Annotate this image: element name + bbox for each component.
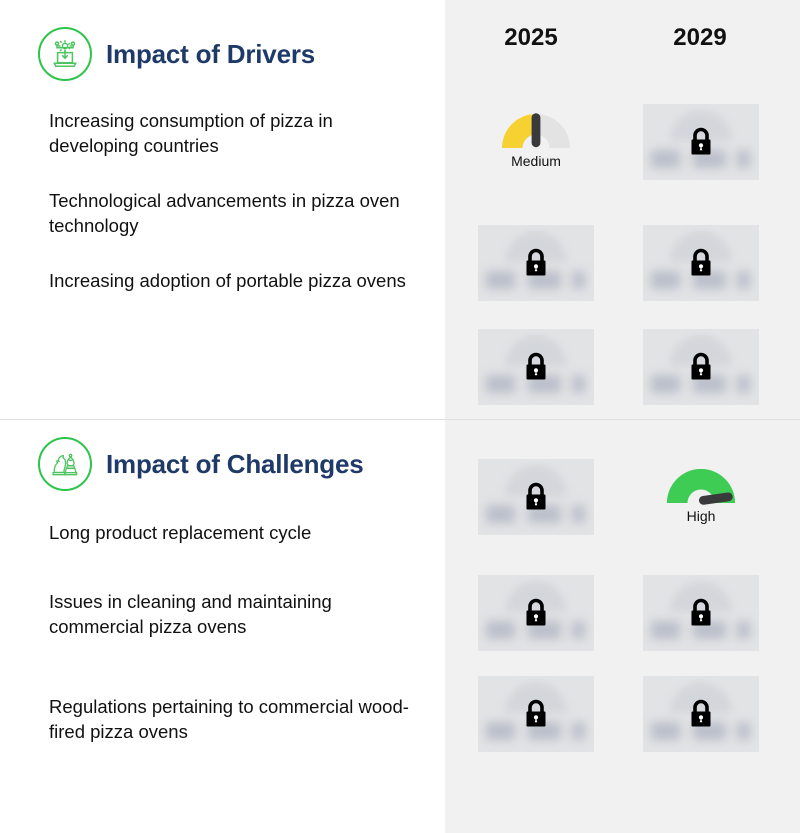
factor-label: Issues in cleaning and maintaining comme… (49, 589, 409, 639)
lock-icon (686, 350, 716, 384)
lock-icon (686, 246, 716, 280)
lock-icon (521, 480, 551, 514)
lock-icon (686, 596, 716, 630)
lock-icon (521, 697, 551, 731)
factor-label: Regulations pertaining to commercial woo… (49, 694, 409, 744)
gauge-arc-icon (498, 108, 574, 152)
lock-icon (686, 697, 716, 731)
gauge-value-label: Medium (511, 153, 561, 169)
automation-drivers-icon (38, 27, 92, 81)
locked-tile[interactable] (478, 575, 594, 651)
factor-label: Long product replacement cycle (49, 520, 409, 545)
locked-tile[interactable] (643, 225, 759, 301)
impact-matrix-canvas: Impact of Drivers Increasing consumption… (0, 0, 800, 833)
rating-cell-challenges-2-2029[interactable] (643, 575, 759, 651)
gauge-value-label: High (687, 508, 716, 524)
section-header-drivers: Impact of Drivers (38, 27, 315, 81)
rating-cell-drivers-3-2025[interactable] (478, 329, 594, 405)
rating-cell-challenges-3-2029[interactable] (643, 676, 759, 752)
locked-tile[interactable] (643, 104, 759, 180)
gauge-high: High (643, 459, 759, 535)
locked-tile[interactable] (478, 329, 594, 405)
gauge-medium: Medium (478, 104, 594, 180)
lock-icon (686, 125, 716, 159)
locked-tile[interactable] (478, 676, 594, 752)
section-title: Impact of Drivers (106, 39, 315, 70)
column-header-2029: 2029 (640, 24, 760, 52)
locked-tile[interactable] (643, 575, 759, 651)
rating-cell-drivers-1-2025[interactable]: Medium (478, 104, 594, 180)
rating-cell-drivers-1-2029[interactable] (643, 104, 759, 180)
lock-icon (521, 596, 551, 630)
rating-cell-challenges-1-2029[interactable]: High (643, 459, 759, 535)
section-title: Impact of Challenges (106, 449, 364, 480)
section-header-challenges: Impact of Challenges (38, 437, 364, 491)
locked-tile[interactable] (478, 459, 594, 535)
column-header-2025: 2025 (471, 24, 591, 52)
chess-pieces-icon (38, 437, 92, 491)
rating-cell-drivers-2-2025[interactable] (478, 225, 594, 301)
factor-label: Increasing adoption of portable pizza ov… (49, 268, 409, 293)
rating-cell-challenges-2-2025[interactable] (478, 575, 594, 651)
factor-label: Increasing consumption of pizza in devel… (49, 108, 409, 158)
lock-icon (521, 350, 551, 384)
factor-label: Technological advancements in pizza oven… (49, 188, 409, 238)
locked-tile[interactable] (478, 225, 594, 301)
rating-cell-drivers-2-2029[interactable] (643, 225, 759, 301)
locked-tile[interactable] (643, 329, 759, 405)
gauge-arc-icon (663, 463, 739, 507)
factors-column: Impact of Drivers Increasing consumption… (0, 0, 445, 833)
lock-icon (521, 246, 551, 280)
locked-tile[interactable] (643, 676, 759, 752)
rating-cell-drivers-3-2029[interactable] (643, 329, 759, 405)
rating-cell-challenges-3-2025[interactable] (478, 676, 594, 752)
rating-cell-challenges-1-2025[interactable] (478, 459, 594, 535)
